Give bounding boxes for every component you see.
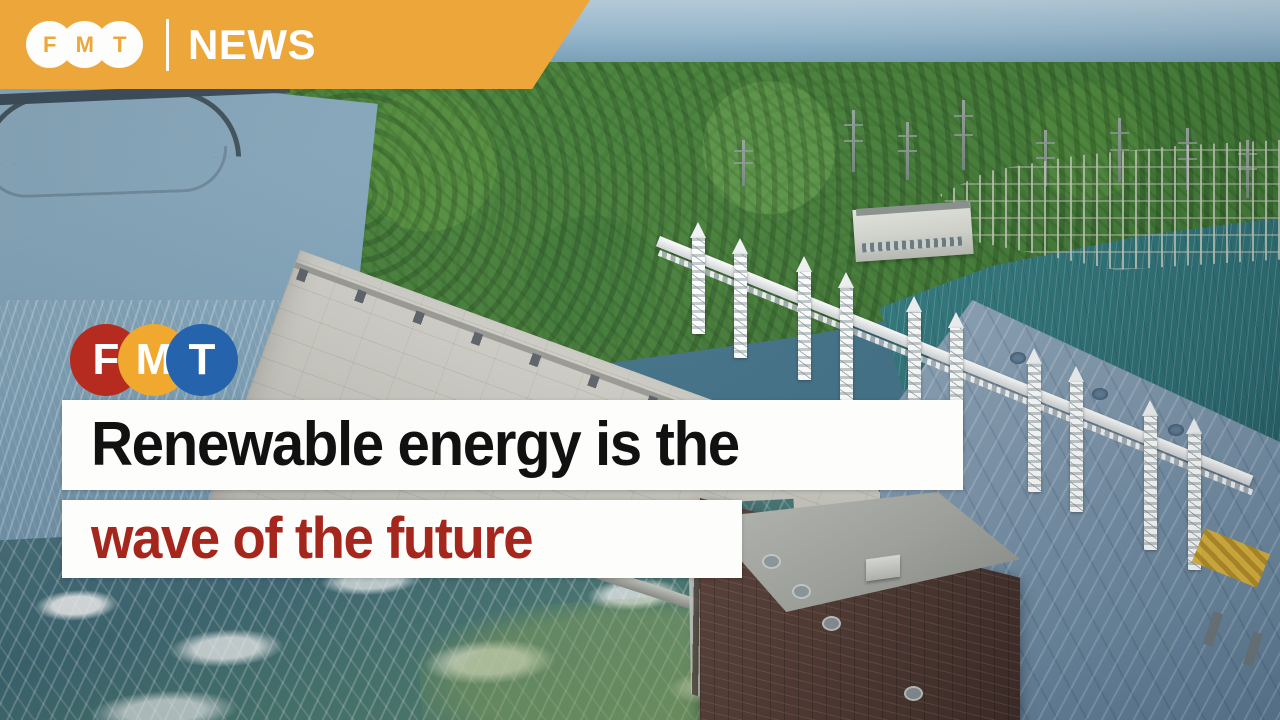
headline-line-1: Renewable energy is the — [91, 414, 739, 476]
transmission-tower — [962, 100, 965, 170]
crane-cap-icon — [690, 222, 706, 238]
gantry-crane-leg — [734, 254, 747, 358]
crane-cap-icon — [948, 312, 964, 328]
gantry-crane-leg — [1070, 382, 1083, 512]
header-fmt-logo: F M T — [26, 21, 144, 68]
header-logo-letter-t: T — [96, 21, 143, 68]
penstock-port — [1168, 424, 1184, 436]
penstock-port — [1010, 352, 1026, 364]
headline-line-2: wave of the future — [91, 510, 532, 568]
crane-cap-icon — [906, 296, 922, 312]
crane-cap-icon — [1026, 348, 1042, 364]
crane-cap-icon — [838, 272, 854, 288]
news-thumbnail: F M T NEWS F M T Renewable energy is the… — [0, 0, 1280, 720]
gantry-crane-leg — [1028, 364, 1041, 492]
transmission-tower — [742, 140, 745, 186]
gantry-crane-leg — [1144, 416, 1157, 550]
crane-cap-icon — [796, 256, 812, 272]
badge-circle-t: T — [166, 324, 238, 396]
gantry-crane-leg — [692, 238, 705, 334]
crane-cap-icon — [1068, 366, 1084, 382]
crane-cap-icon — [1186, 418, 1202, 434]
header-divider — [166, 19, 169, 71]
porthole-window — [792, 584, 811, 599]
porthole-window — [904, 686, 923, 701]
fmt-logo-badge: F M T — [70, 324, 238, 396]
crane-cap-icon — [1142, 400, 1158, 416]
transmission-tower — [906, 122, 909, 180]
porthole-window — [762, 554, 781, 569]
gantry-crane-leg — [798, 272, 811, 380]
gantry-crane-leg — [840, 288, 853, 400]
penstock-port — [1092, 388, 1108, 400]
header-label: NEWS — [188, 24, 316, 66]
headline-block-first-line: Renewable energy is the — [62, 400, 963, 490]
transmission-tower — [852, 110, 855, 172]
header-bar: F M T NEWS — [0, 0, 590, 89]
crane-cap-icon — [732, 238, 748, 254]
headline-block-second-line: wave of the future — [62, 500, 742, 578]
porthole-window — [822, 616, 841, 631]
